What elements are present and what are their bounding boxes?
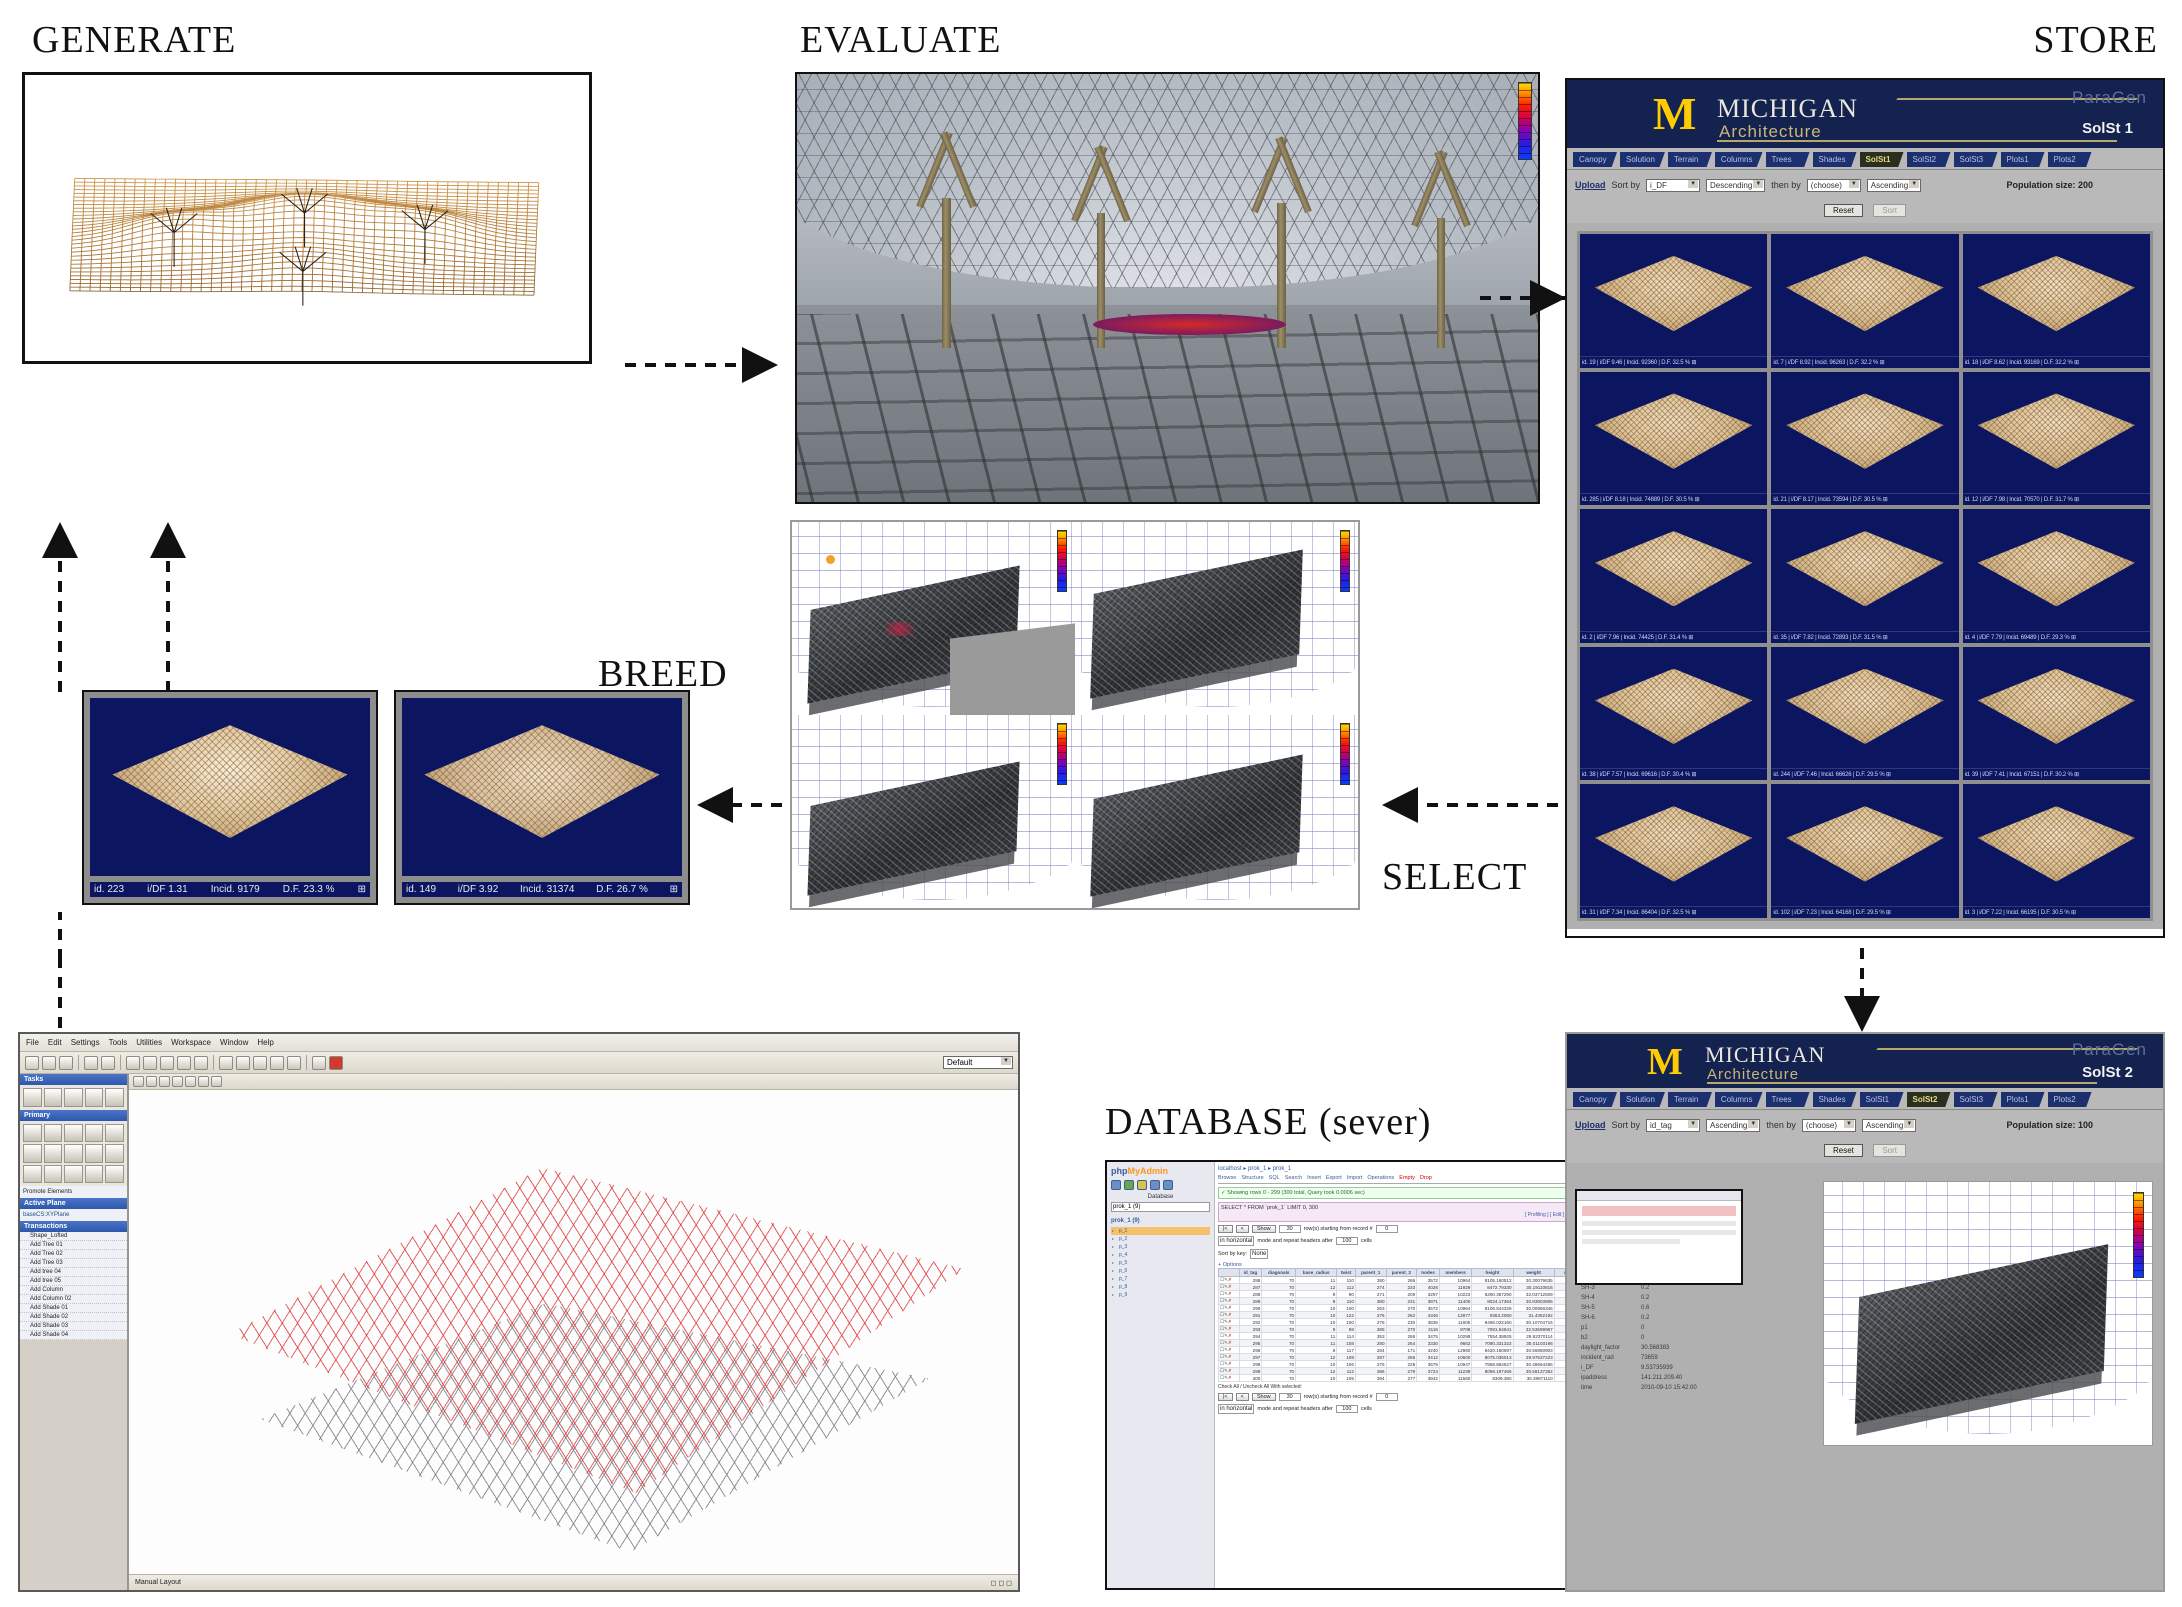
solst2-tab-terrain[interactable]: Terrain — [1668, 1092, 1712, 1107]
row-actions[interactable]: ☐✎✗ — [1219, 1354, 1240, 1361]
solst2-tab-trees[interactable]: Trees — [1766, 1092, 1810, 1107]
cad-status-left: Manual Layout — [135, 1579, 181, 1586]
store-tab-bar[interactable]: CanopySolutionTerrainColumnsTreesShadesS… — [1567, 148, 2163, 170]
line-tool-icon[interactable] — [143, 1056, 157, 1070]
menu-workspace[interactable]: Workspace — [171, 1038, 211, 1047]
cell-weight: 30.01103196 — [1513, 1340, 1554, 1347]
row-actions[interactable]: ☐✎✗ — [1219, 1312, 1240, 1319]
primary-icon-8[interactable] — [64, 1144, 83, 1163]
solst2-tab-plots1[interactable]: Plots1 — [2001, 1092, 2045, 1107]
sun-position-icon — [826, 555, 835, 564]
render-icon[interactable] — [287, 1056, 301, 1070]
then-direction-select-2[interactable]: Ascending — [1862, 1119, 1916, 1132]
store-toolbar[interactable]: Upload Sort by i_DF Descending then by (… — [1567, 170, 2163, 200]
tasks-palette[interactable] — [20, 1085, 127, 1110]
pma-tab-empty[interactable]: Empty — [1399, 1175, 1415, 1181]
column-base_radius[interactable]: base_radius — [1296, 1269, 1337, 1277]
pan-icon[interactable] — [146, 1076, 157, 1087]
tasks-header[interactable]: Tasks — [20, 1074, 127, 1085]
delete-row-icon[interactable]: ✗ — [1228, 1368, 1232, 1373]
solst2-tab-columns[interactable]: Columns — [1715, 1092, 1763, 1107]
store-thumbnail-13[interactable]: id. 31 | i/DF 7.34 | Incid. 86404 | D.F.… — [1580, 784, 1767, 918]
measure-icon[interactable] — [270, 1056, 284, 1070]
delete-row-icon[interactable]: ✗ — [1228, 1298, 1232, 1303]
curve-tool-icon[interactable] — [160, 1056, 174, 1070]
breed-1-expand-icon[interactable]: ⊞ — [358, 884, 366, 895]
show-count-input-bottom[interactable]: 30 — [1279, 1393, 1301, 1401]
delete-row-icon[interactable]: ✗ — [1228, 1326, 1232, 1331]
cell-base_radius: 10 — [1296, 1361, 1337, 1368]
store-thumbnail-1[interactable]: id. 19 | i/DF 9.46 | Incid. 92360 | D.F.… — [1580, 234, 1767, 368]
sort-direction-select[interactable]: Descending — [1706, 179, 1765, 192]
floor-shadow-pattern — [795, 314, 1540, 504]
store-paragen-window[interactable]: M MICHIGAN Architecture ParaGen SolSt 1 … — [1565, 78, 2165, 938]
mesh-red-layer — [182, 1146, 964, 1507]
row-actions[interactable]: ☐✎✗ — [1219, 1284, 1240, 1291]
cell-height: 7081.64641 — [1472, 1326, 1513, 1333]
primary-icon-2[interactable] — [44, 1124, 63, 1143]
primary-icon-7[interactable] — [44, 1144, 63, 1163]
pma-tab-browse[interactable]: Browse — [1218, 1175, 1236, 1181]
breed-card-1[interactable]: id. 223 i/DF 1.31 Incid. 9179 D.F. 23.3 … — [82, 690, 378, 905]
row-actions[interactable]: ☐✎✗ — [1219, 1305, 1240, 1312]
transaction-item-11[interactable]: Add Shade 03 — [20, 1322, 127, 1331]
task-icon-5[interactable] — [105, 1088, 124, 1107]
breed-2-expand-icon[interactable]: ⊞ — [670, 884, 678, 895]
cell-height: 8069.197466 — [1472, 1368, 1513, 1375]
cell-id_tag: 298 — [1239, 1361, 1262, 1368]
active-plane-value[interactable]: baseCS:XYPlane — [20, 1209, 127, 1221]
db-table-p_5[interactable]: p_5 — [1111, 1259, 1210, 1267]
task-icon-4[interactable] — [85, 1088, 104, 1107]
store-tab-terrain[interactable]: Terrain — [1668, 152, 1712, 167]
transaction-list[interactable]: Shape_LoftedAdd Tree 01Add Tree 02Add Tr… — [20, 1232, 127, 1340]
menu-settings[interactable]: Settings — [71, 1038, 100, 1047]
primary-palette[interactable] — [20, 1121, 127, 1187]
transaction-item-2[interactable]: Add Tree 01 — [20, 1241, 127, 1250]
delete-row-icon[interactable]: ✗ — [1228, 1277, 1232, 1282]
display-mode-select-bottom[interactable]: in horizontal — [1218, 1404, 1254, 1414]
show-button-bottom[interactable]: Show — [1252, 1393, 1276, 1401]
cell-diagonals: 70 — [1262, 1312, 1296, 1319]
logout-icon[interactable] — [1163, 1180, 1173, 1190]
store-thumbnail-9[interactable]: id. 4 | i/DF 7.79 | Incid. 69489 | D.F. … — [1963, 509, 2150, 643]
select-view-3[interactable] — [792, 715, 1075, 908]
query-notice-text: Showing rows 0 - 299 (300 total, Query t… — [1227, 1190, 1365, 1196]
cell-nodes: 3412 — [1417, 1354, 1440, 1361]
cad-menu-bar[interactable]: FileEditSettingsToolsUtilitiesWorkspaceW… — [20, 1034, 1018, 1052]
row-actions[interactable]: ☐✎✗ — [1219, 1319, 1240, 1326]
reset-button[interactable]: Reset — [1824, 204, 1863, 217]
help-icon[interactable] — [312, 1056, 326, 1070]
store-thumbnail-2[interactable]: id. 7 | i/DF 8.92 | Incid. 96263 | D.F. … — [1771, 234, 1958, 368]
select-view-1[interactable] — [792, 522, 1075, 715]
store-thumbnail-12[interactable]: id. 39 | i/DF 7.41 | Incid. 67151 | D.F.… — [1963, 647, 2150, 781]
menu-utilities[interactable]: Utilities — [136, 1038, 162, 1047]
redo-icon[interactable] — [101, 1056, 115, 1070]
breed-card-2[interactable]: id. 149 i/DF 3.92 Incid. 31374 D.F. 26.7… — [394, 690, 690, 905]
parameter-value: 0 — [1641, 1333, 1644, 1343]
cell-weight: 31.4362192 — [1513, 1312, 1554, 1319]
store-tab-solst2[interactable]: SolSt2 — [1907, 152, 1951, 167]
parameter-row: i_DF9.53735939 — [1581, 1363, 1697, 1373]
delete-row-icon[interactable]: ✗ — [1228, 1319, 1232, 1324]
store-thumbnail-10[interactable]: id. 38 | i/DF 7.57 | Incid. 69616 | D.F.… — [1580, 647, 1767, 781]
solst2-paragen-window[interactable]: M MICHIGAN Architecture ParaGen SolSt 2 … — [1565, 1032, 2165, 1592]
menu-help[interactable]: Help — [257, 1038, 273, 1047]
cell-nodes: 3330 — [1417, 1340, 1440, 1347]
undo-icon[interactable] — [84, 1056, 98, 1070]
select-view-4[interactable] — [1075, 715, 1358, 908]
zoom-icon[interactable] — [133, 1076, 144, 1087]
pma-tab-sql[interactable]: SQL — [1269, 1175, 1280, 1181]
pma-tab-insert[interactable]: Insert — [1307, 1175, 1321, 1181]
first-page-button-bottom[interactable]: |< — [1218, 1393, 1233, 1401]
cell-diagonals: 70 — [1262, 1298, 1296, 1305]
store-thumbnail-14[interactable]: id. 102 | i/DF 7.23 | Incid. 64168 | D.F… — [1771, 784, 1958, 918]
row-actions[interactable]: ☐✎✗ — [1219, 1298, 1240, 1305]
delete-row-icon[interactable]: ✗ — [1228, 1347, 1232, 1352]
row-actions[interactable]: ☐✎✗ — [1219, 1340, 1240, 1347]
delete-row-icon[interactable]: ✗ — [1228, 1340, 1232, 1345]
store-page-title: SolSt 1 — [2082, 120, 2133, 137]
array-icon[interactable] — [253, 1056, 267, 1070]
transaction-item-8[interactable]: Add Column 02 — [20, 1295, 127, 1304]
solst2-header: M MICHIGAN Architecture ParaGen SolSt 2 — [1567, 1034, 2163, 1088]
cell-diagonals: 70 — [1262, 1305, 1296, 1312]
row-actions[interactable]: ☐✎✗ — [1219, 1277, 1240, 1284]
store-thumbnail-3[interactable]: id. 18 | i/DF 8.62 | Incid. 93169 | D.F.… — [1963, 234, 2150, 368]
task-icon-2[interactable] — [44, 1088, 63, 1107]
popup-title-bar[interactable] — [1577, 1191, 1741, 1201]
primary-icon-9[interactable] — [85, 1144, 104, 1163]
primary-icon-15[interactable] — [105, 1165, 124, 1184]
home-icon[interactable] — [1111, 1180, 1121, 1190]
select-panel — [790, 520, 1360, 910]
cell-nodes: 3871 — [1417, 1298, 1440, 1305]
cell-twist: 110 — [1337, 1277, 1356, 1284]
delete-row-icon[interactable]: ✗ — [1228, 1333, 1232, 1338]
primary-icon-3[interactable] — [64, 1124, 83, 1143]
mirror-icon[interactable] — [236, 1056, 250, 1070]
store-thumbnail-8[interactable]: id. 35 | i/DF 7.82 | Incid. 72893 | D.F.… — [1771, 509, 1958, 643]
delete-row-icon[interactable]: ✗ — [1228, 1305, 1232, 1310]
store-thumbnail-5[interactable]: id. 21 | i/DF 8.17 | Incid. 73594 | D.F.… — [1771, 372, 1958, 506]
pma-tab-structure[interactable]: Structure — [1241, 1175, 1263, 1181]
cell-members: 11929 — [1439, 1284, 1471, 1291]
solst2-render-view[interactable] — [1823, 1181, 2153, 1446]
primary-icon-5[interactable] — [105, 1124, 124, 1143]
solst2-tab-bar[interactable]: CanopySolutionTerrainColumnsTreesShadesS… — [1567, 1088, 2163, 1110]
open-icon[interactable] — [42, 1056, 56, 1070]
primary-icon-14[interactable] — [85, 1165, 104, 1184]
store-button-row[interactable]: Reset Sort — [1567, 200, 2163, 223]
delete-row-icon[interactable]: ✗ — [1228, 1361, 1232, 1366]
column-twist[interactable]: twist — [1337, 1269, 1356, 1277]
active-plane-header[interactable]: Active Plane — [20, 1198, 127, 1209]
logo-php: php — [1111, 1166, 1128, 1176]
primary-icon-1[interactable] — [23, 1124, 42, 1143]
parameter-value: 0 — [1641, 1323, 1644, 1333]
store-tab-plots2[interactable]: Plots2 — [2048, 152, 2092, 167]
cell-weight: 32.03712509 — [1513, 1291, 1554, 1298]
column-members[interactable]: members — [1439, 1269, 1471, 1277]
transaction-item-9[interactable]: Add Shade 01 — [20, 1304, 127, 1313]
thumbnail-caption-7: id. 2 | i/DF 7.96 | Incid. 74425 | D.F. … — [1580, 631, 1767, 643]
parameter-value: 9.53735939 — [1641, 1363, 1673, 1373]
show-button-top[interactable]: Show — [1252, 1225, 1276, 1233]
cell-members: 10964 — [1439, 1305, 1471, 1312]
cad-left-dock[interactable]: Tasks Primary — [20, 1074, 128, 1590]
store-tab-trees[interactable]: Trees — [1766, 152, 1810, 167]
thumbnail-geometry-3 — [1978, 256, 2135, 331]
solst2-popup-dialog[interactable] — [1575, 1189, 1743, 1285]
column-parent_2[interactable]: parent_2 — [1386, 1269, 1417, 1277]
prev-page-button[interactable]: < — [1236, 1225, 1249, 1233]
toolbar-separator — [78, 1055, 79, 1070]
parameter-row: ipaddress141.211.209.40 — [1581, 1373, 1697, 1383]
cad-application-window[interactable]: FileEditSettingsToolsUtilitiesWorkspaceW… — [18, 1032, 1020, 1592]
row-actions[interactable]: ☐✎✗ — [1219, 1347, 1240, 1354]
store-tab-solst1[interactable]: SolSt1 — [1860, 152, 1904, 167]
solst2-tab-shades[interactable]: Shades — [1813, 1092, 1857, 1107]
sort-button[interactable]: Sort — [1873, 204, 1906, 217]
show-count-input-top[interactable]: 30 — [1279, 1225, 1301, 1233]
column-parent_1[interactable]: parent_1 — [1355, 1269, 1386, 1277]
cell-twist: 105 — [1337, 1375, 1356, 1382]
db-table-p_1[interactable]: p_1 — [1111, 1227, 1210, 1235]
cad-status-bar: Manual Layout ◻ ◻ ◻ — [129, 1574, 1018, 1590]
phpmyadmin-sidebar[interactable]: phpMyAdmin Database prok_1 (9) prok_1 (9… — [1107, 1162, 1215, 1588]
delete-row-icon[interactable]: ✗ — [1228, 1284, 1232, 1289]
new-icon[interactable] — [25, 1056, 39, 1070]
primary-icon-12[interactable] — [44, 1165, 63, 1184]
column-nodes[interactable]: nodes — [1417, 1269, 1440, 1277]
store-tab-plots1[interactable]: Plots1 — [2001, 152, 2045, 167]
repeat-headers-input-top[interactable]: 100 — [1336, 1237, 1358, 1245]
store-tab-solution[interactable]: Solution — [1620, 152, 1665, 167]
pma-tab-import[interactable]: Import — [1347, 1175, 1363, 1181]
pma-tab-search[interactable]: Search — [1285, 1175, 1302, 1181]
database-select[interactable]: prok_1 (9) — [1111, 1202, 1210, 1212]
cad-toolbar[interactable]: Default — [20, 1052, 1018, 1074]
transactions-header[interactable]: Transactions — [20, 1221, 127, 1232]
row-actions[interactable]: ☐✎✗ — [1219, 1361, 1240, 1368]
solst2-button-row[interactable]: Reset Sort — [1567, 1140, 2163, 1163]
parameter-value: 0.2 — [1641, 1313, 1649, 1323]
db-table-p_4[interactable]: p_4 — [1111, 1251, 1210, 1259]
solid-tool-icon[interactable] — [194, 1056, 208, 1070]
breed-render-1 — [90, 698, 370, 876]
cell-weight: 30.83903905 — [1513, 1298, 1554, 1305]
parameter-value: 30.568383 — [1641, 1343, 1669, 1353]
surface-tool-icon[interactable] — [177, 1056, 191, 1070]
stop-icon[interactable] — [329, 1056, 343, 1070]
transaction-item-10[interactable]: Add Shade 02 — [20, 1313, 127, 1322]
db-table-p_8[interactable]: p_8 — [1111, 1283, 1210, 1291]
solst2-tab-solst1[interactable]: SolSt1 — [1860, 1092, 1904, 1107]
select-view-2[interactable] — [1075, 522, 1358, 715]
cell-members: 11605 — [1439, 1319, 1471, 1326]
store-thumbnail-11[interactable]: id. 244 | i/DF 7.46 | Incid. 66626 | D.F… — [1771, 647, 1958, 781]
solst2-tab-solution[interactable]: Solution — [1620, 1092, 1665, 1107]
column-height[interactable]: height — [1472, 1269, 1513, 1277]
cad-viewport[interactable]: Manual Layout ◻ ◻ ◻ — [128, 1074, 1018, 1590]
parameter-row: SH-50.6 — [1581, 1303, 1697, 1313]
pma-tab-operations[interactable]: Operations — [1367, 1175, 1394, 1181]
primary-header[interactable]: Primary — [20, 1110, 127, 1121]
transaction-item-12[interactable]: Add Shade 04 — [20, 1331, 127, 1340]
row-actions[interactable]: ☐✎✗ — [1219, 1291, 1240, 1298]
menu-file[interactable]: File — [26, 1038, 39, 1047]
db-table-p_9[interactable]: p_9 — [1111, 1291, 1210, 1299]
docs-icon[interactable] — [1150, 1180, 1160, 1190]
sql-icon[interactable] — [1124, 1180, 1134, 1190]
sort-by-select-2[interactable]: id_tag — [1646, 1119, 1700, 1132]
thumbnail-render-1 — [1580, 234, 1767, 356]
store-tab-solst3[interactable]: SolSt3 — [1954, 152, 1998, 167]
upload-link-2[interactable]: Upload — [1575, 1120, 1606, 1130]
primary-icon-11[interactable] — [23, 1165, 42, 1184]
table-list[interactable]: p_1p_2p_3p_4p_5p_6p_7p_8p_9 — [1111, 1227, 1210, 1299]
cell-diagonals: 70 — [1262, 1291, 1296, 1298]
transform-icon[interactable] — [219, 1056, 233, 1070]
solst2-tab-canopy[interactable]: Canopy — [1573, 1092, 1617, 1107]
cell-weight: 30.58137352 — [1513, 1368, 1554, 1375]
delete-row-icon[interactable]: ✗ — [1228, 1312, 1232, 1317]
row-actions[interactable]: ☐✎✗ — [1219, 1333, 1240, 1340]
row-actions[interactable]: ☐✎✗ — [1219, 1326, 1240, 1333]
school-name-2: Architecture — [1707, 1066, 1799, 1083]
repeat-headers-input-bottom[interactable]: 100 — [1336, 1405, 1358, 1413]
thumbnail-caption-1: id. 19 | i/DF 9.46 | Incid. 92360 | D.F.… — [1580, 356, 1767, 368]
start-record-input-top[interactable]: 0 — [1376, 1225, 1398, 1233]
menu-edit[interactable]: Edit — [48, 1038, 62, 1047]
then-by-select-2[interactable]: (choose) — [1802, 1119, 1856, 1132]
sort-by-key-select[interactable]: None — [1250, 1249, 1268, 1259]
cell-id_tag: 286 — [1239, 1277, 1262, 1284]
task-icon-3[interactable] — [64, 1088, 83, 1107]
then-direction-select[interactable]: Ascending — [1867, 179, 1921, 192]
menu-window[interactable]: Window — [220, 1038, 248, 1047]
export-icon[interactable] — [1137, 1180, 1147, 1190]
transaction-item-1[interactable]: Shape_Lofted — [20, 1232, 127, 1241]
transaction-item-3[interactable]: Add Tree 02 — [20, 1250, 127, 1259]
thumbnail-render-9 — [1963, 509, 2150, 631]
cell-id_tag: 288 — [1239, 1291, 1262, 1298]
pma-tab-export[interactable]: Export — [1326, 1175, 1342, 1181]
then-by-select[interactable]: (choose) — [1807, 179, 1861, 192]
cell-twist: 117 — [1337, 1347, 1356, 1354]
cell-members: 10223 — [1439, 1291, 1471, 1298]
style-select[interactable]: Default — [943, 1056, 1013, 1069]
solst2-tab-plots2[interactable]: Plots2 — [2048, 1092, 2092, 1107]
fit-icon[interactable] — [172, 1076, 183, 1087]
store-thumbnail-7[interactable]: id. 2 | i/DF 7.96 | Incid. 74425 | D.F. … — [1580, 509, 1767, 643]
breed-panel: id. 223 i/DF 1.31 Incid. 9179 D.F. 23.3 … — [82, 690, 690, 905]
rows-from-label-bottom: row(s) starting from record # — [1304, 1394, 1373, 1400]
sort-by-select[interactable]: i_DF — [1646, 179, 1700, 192]
thumbnail-geometry-8 — [1786, 531, 1943, 606]
shade-icon[interactable] — [185, 1076, 196, 1087]
cell-parent_1: 386 — [1355, 1368, 1386, 1375]
paragen-brand: ParaGen — [2072, 88, 2147, 108]
primary-icon-13[interactable] — [64, 1165, 83, 1184]
row-actions[interactable]: ☐✎✗ — [1219, 1368, 1240, 1375]
cell-diagonals: 70 — [1262, 1277, 1296, 1284]
db-table-p_3[interactable]: p_3 — [1111, 1243, 1210, 1251]
cell-parent_2: 231 — [1386, 1298, 1417, 1305]
save-icon[interactable] — [59, 1056, 73, 1070]
parameter-key: p1 — [1581, 1323, 1635, 1333]
delete-row-icon[interactable]: ✗ — [1228, 1354, 1232, 1359]
db-table-p_6[interactable]: p_6 — [1111, 1267, 1210, 1275]
row-actions[interactable]: ☐✎✗ — [1219, 1375, 1240, 1382]
select-colorbar-1 — [1057, 530, 1067, 592]
point-tool-icon[interactable] — [126, 1056, 140, 1070]
layers-icon[interactable] — [211, 1076, 222, 1087]
pma-tab-drop[interactable]: Drop — [1420, 1175, 1432, 1181]
transaction-item-4[interactable]: Add Tree 03 — [20, 1259, 127, 1268]
orbit-icon[interactable] — [159, 1076, 170, 1087]
primary-icon-4[interactable] — [85, 1124, 104, 1143]
task-icon-1[interactable] — [23, 1088, 42, 1107]
solst2-toolbar[interactable]: Upload Sort by id_tag Ascending then by … — [1567, 1110, 2163, 1140]
store-thumbnail-6[interactable]: id. 12 | i/DF 7.98 | Incid. 70570 | D.F.… — [1963, 372, 2150, 506]
transaction-item-5[interactable]: Add tree 04 — [20, 1268, 127, 1277]
store-thumbnail-15[interactable]: id. 3 | i/DF 7.22 | Incid. 66195 | D.F. … — [1963, 784, 2150, 918]
column-diagonals[interactable]: diagonals — [1262, 1269, 1296, 1277]
store-thumbnail-grid[interactable]: id. 19 | i/DF 9.46 | Incid. 92360 | D.F.… — [1577, 231, 2153, 921]
column-id_tag[interactable]: id_tag — [1239, 1269, 1262, 1277]
display-mode-select-top[interactable]: in horizontal — [1218, 1236, 1254, 1246]
start-record-input-bottom[interactable]: 0 — [1376, 1393, 1398, 1401]
store-tab-canopy[interactable]: Canopy — [1573, 152, 1617, 167]
upload-link[interactable]: Upload — [1575, 180, 1606, 190]
promote-elements-label[interactable]: Promote Elements — [20, 1186, 127, 1198]
cell-twist: 108 — [1337, 1340, 1356, 1347]
first-page-button[interactable]: |< — [1218, 1225, 1233, 1233]
sort-direction-select-2[interactable]: Ascending — [1706, 1119, 1760, 1132]
cell-base_radius: 9 — [1296, 1291, 1337, 1298]
column-weight[interactable]: weight — [1513, 1269, 1554, 1277]
transaction-item-6[interactable]: Add tree 05 — [20, 1277, 127, 1286]
cell-twist: 100 — [1337, 1305, 1356, 1312]
prev-page-button-bottom[interactable]: < — [1236, 1393, 1249, 1401]
wireframe-icon[interactable] — [198, 1076, 209, 1087]
primary-icon-10[interactable] — [105, 1144, 124, 1163]
db-table-p_2[interactable]: p_2 — [1111, 1235, 1210, 1243]
db-table-p_7[interactable]: p_7 — [1111, 1275, 1210, 1283]
cell-twist: 122 — [1337, 1312, 1356, 1319]
primary-icon-6[interactable] — [23, 1144, 42, 1163]
transaction-item-7[interactable]: Add Column — [20, 1286, 127, 1295]
delete-row-icon[interactable]: ✗ — [1228, 1375, 1232, 1380]
cell-parent_1: 353 — [1355, 1333, 1386, 1340]
delete-row-icon[interactable]: ✗ — [1228, 1291, 1232, 1296]
sort-button-2[interactable]: Sort — [1873, 1144, 1906, 1157]
sidebar-icon-row[interactable] — [1111, 1180, 1210, 1190]
store-thumbnail-4[interactable]: id. 285 | i/DF 8.18 | Incid. 74889 | D.F… — [1580, 372, 1767, 506]
store-tab-shades[interactable]: Shades — [1813, 152, 1857, 167]
reset-button-2[interactable]: Reset — [1824, 1144, 1863, 1157]
solst2-tab-solst3[interactable]: SolSt3 — [1954, 1092, 1998, 1107]
menu-tools[interactable]: Tools — [109, 1038, 128, 1047]
solst2-tab-solst2[interactable]: SolSt2 — [1907, 1092, 1951, 1107]
parameter-value: 0.2 — [1641, 1293, 1649, 1303]
viewport-toolbar[interactable] — [129, 1074, 1018, 1090]
store-tab-columns[interactable]: Columns — [1715, 152, 1763, 167]
